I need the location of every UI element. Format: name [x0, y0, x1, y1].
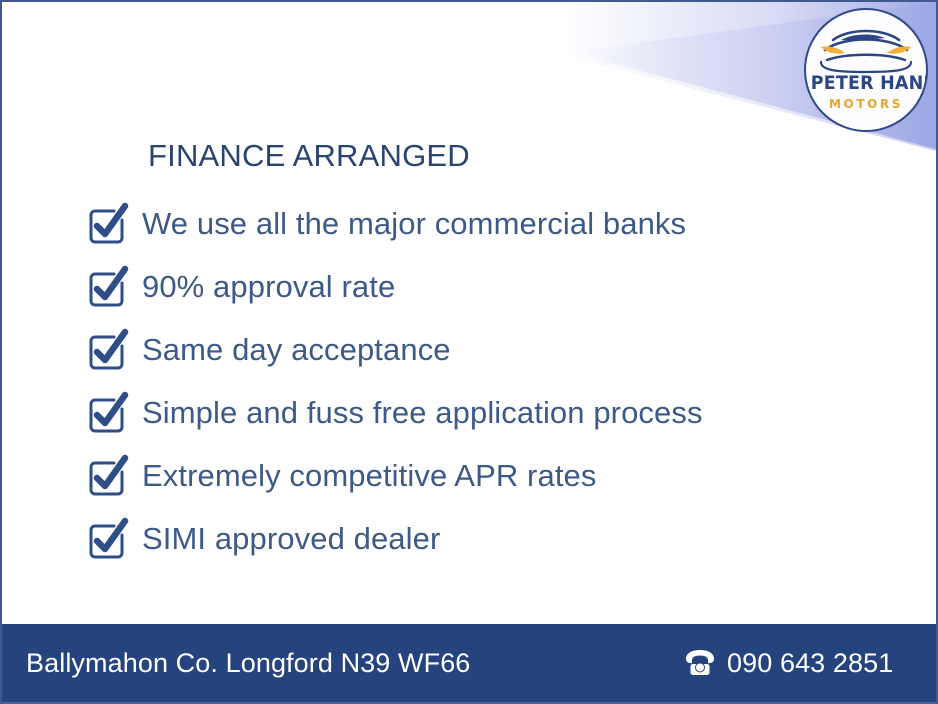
list-item: Simple and fuss free application process — [84, 381, 884, 444]
checkbox-checked-icon — [84, 264, 130, 310]
footer-phone-number: 090 643 2851 — [727, 648, 893, 679]
checkbox-checked-icon — [84, 516, 130, 562]
list-item-label: Extremely competitive APR rates — [142, 460, 596, 491]
footer-phone-group[interactable]: 090 643 2851 — [683, 648, 893, 679]
footer-address: Ballymahon Co. Longford N39 WF66 — [26, 648, 470, 679]
page-title: FINANCE ARRANGED — [148, 138, 470, 174]
checkbox-checked-icon — [84, 327, 130, 373]
list-item: 90% approval rate — [84, 255, 884, 318]
list-item: SIMI approved dealer — [84, 507, 884, 570]
checkbox-checked-icon — [84, 453, 130, 499]
logo-name: PETER HANLEY — [811, 74, 921, 93]
logo-subtitle: MOTORS — [806, 98, 926, 110]
finance-arranged-poster: PETER HANLEY MOTORS FINANCE ARRANGED We … — [0, 0, 938, 704]
footer-contact-bar: Ballymahon Co. Longford N39 WF66 090 643… — [2, 624, 936, 702]
car-front-emblem-icon — [815, 24, 917, 74]
list-item-label: Simple and fuss free application process — [142, 397, 703, 428]
corner-gradient-wedge — [2, 2, 938, 162]
list-item: Same day acceptance — [84, 318, 884, 381]
checkbox-checked-icon — [84, 201, 130, 247]
checkbox-checked-icon — [84, 390, 130, 436]
list-item-label: Same day acceptance — [142, 334, 451, 365]
benefits-list: We use all the major commercial banks 90… — [84, 192, 884, 570]
dealer-logo-badge: PETER HANLEY MOTORS — [804, 8, 928, 132]
list-item: Extremely competitive APR rates — [84, 444, 884, 507]
list-item-label: 90% approval rate — [142, 271, 395, 302]
list-item-label: We use all the major commercial banks — [142, 208, 686, 239]
telephone-icon — [683, 648, 717, 678]
list-item-label: SIMI approved dealer — [142, 523, 440, 554]
list-item: We use all the major commercial banks — [84, 192, 884, 255]
